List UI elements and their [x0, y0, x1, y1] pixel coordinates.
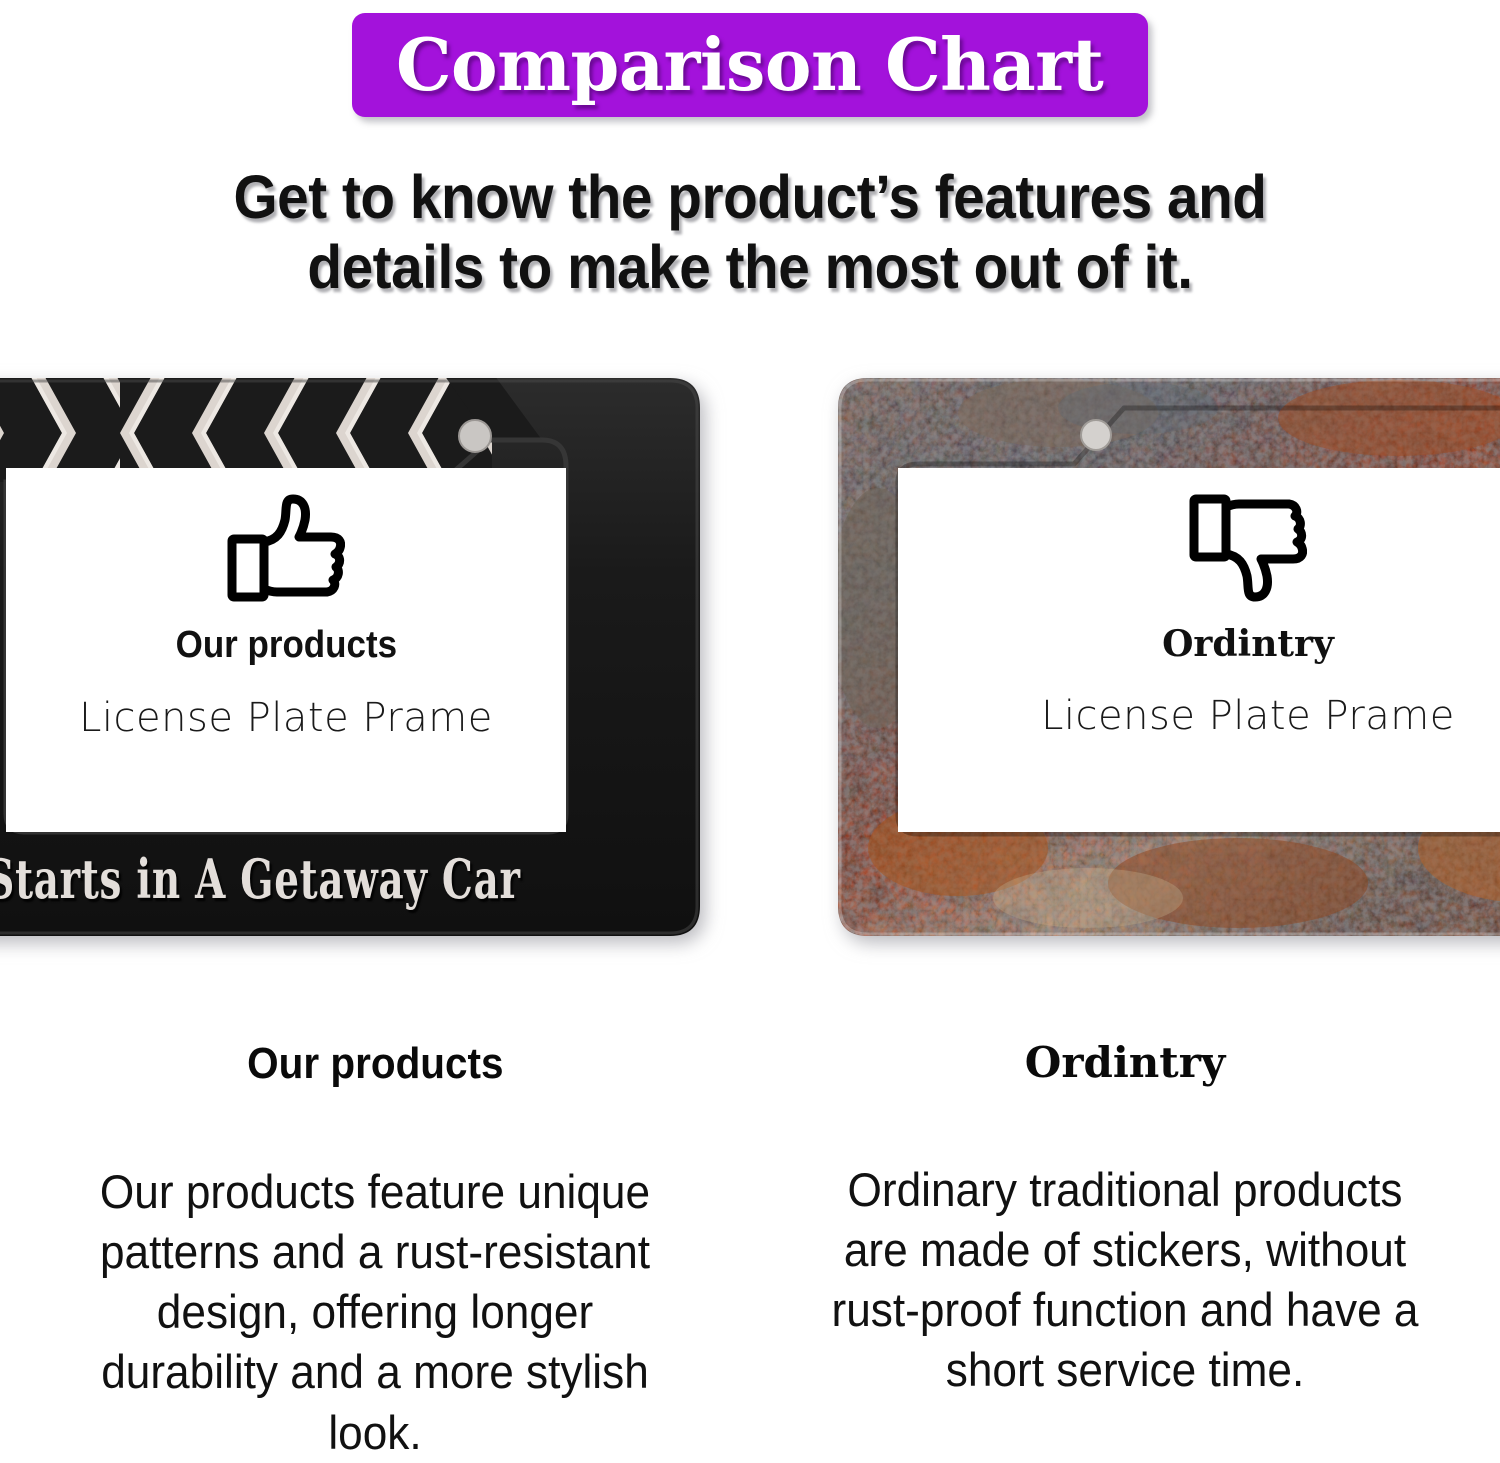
- comparison-description-ours: Our products feature unique patterns and…: [65, 1162, 685, 1463]
- bolt-hole-icon: [459, 420, 491, 452]
- comparison-descriptions: Our products Our products feature unique…: [0, 1020, 1500, 1364]
- plate-window-ordinary: Ordintry License Plate Prame: [898, 468, 1500, 832]
- frame-brand-label-ours: Our products: [175, 626, 396, 664]
- comparison-title-ours: Our products: [247, 1042, 503, 1086]
- frame-product-label-ordinary: License Plate Prame: [1041, 696, 1455, 736]
- comparison-description-ordinary: Ordinary traditional products are made o…: [815, 1160, 1435, 1401]
- comparison-title-ordinary: Ordintry: [1025, 1042, 1226, 1084]
- thumbs-down-icon: [1189, 492, 1307, 604]
- product-frames-row: Our products License Plate Prame d Start…: [0, 0, 1500, 1000]
- bolt-hole-icon: [1081, 420, 1111, 450]
- product-frame-ours: Our products License Plate Prame d Start…: [0, 378, 700, 936]
- comparison-column-ours: Our products Our products feature unique…: [0, 1020, 750, 1364]
- comparison-column-ordinary: Ordintry Ordinary traditional products a…: [750, 1020, 1500, 1364]
- frame-product-label-ours: License Plate Prame: [79, 698, 493, 738]
- frame-brand-label-ordinary: Ordintry: [1162, 626, 1334, 662]
- thumbs-up-icon: [227, 492, 345, 604]
- product-frame-ordinary: Ordintry License Plate Prame: [838, 378, 1500, 936]
- plate-window-ours: Our products License Plate Prame: [6, 468, 566, 832]
